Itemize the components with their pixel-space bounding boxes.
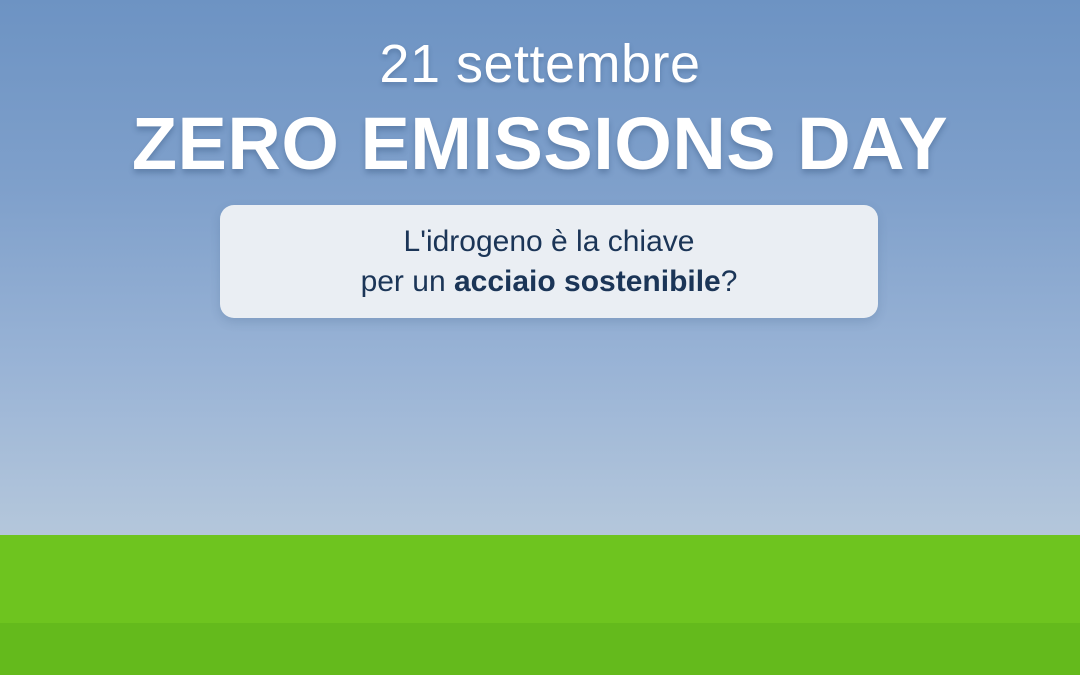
subtitle-text: L'idrogeno è la chiave per un acciaio so… [220,205,878,318]
grass-foreground [0,623,1080,675]
poster-root: 21 settembre ZERO EMISSIONS DAY L'idroge… [0,0,1080,675]
event-date: 21 settembre [0,33,1080,95]
page-title: ZERO EMISSIONS DAY [0,101,1080,186]
subtitle-prefix: per un [361,265,454,298]
subtitle-line-1: L'idrogeno è la chiave [404,222,695,262]
subtitle-box: L'idrogeno è la chiave per un acciaio so… [220,205,878,318]
subtitle-bold: acciaio sostenibile [454,265,721,298]
subtitle-line-2: per un acciaio sostenibile? [361,262,738,302]
subtitle-suffix: ? [721,265,738,298]
